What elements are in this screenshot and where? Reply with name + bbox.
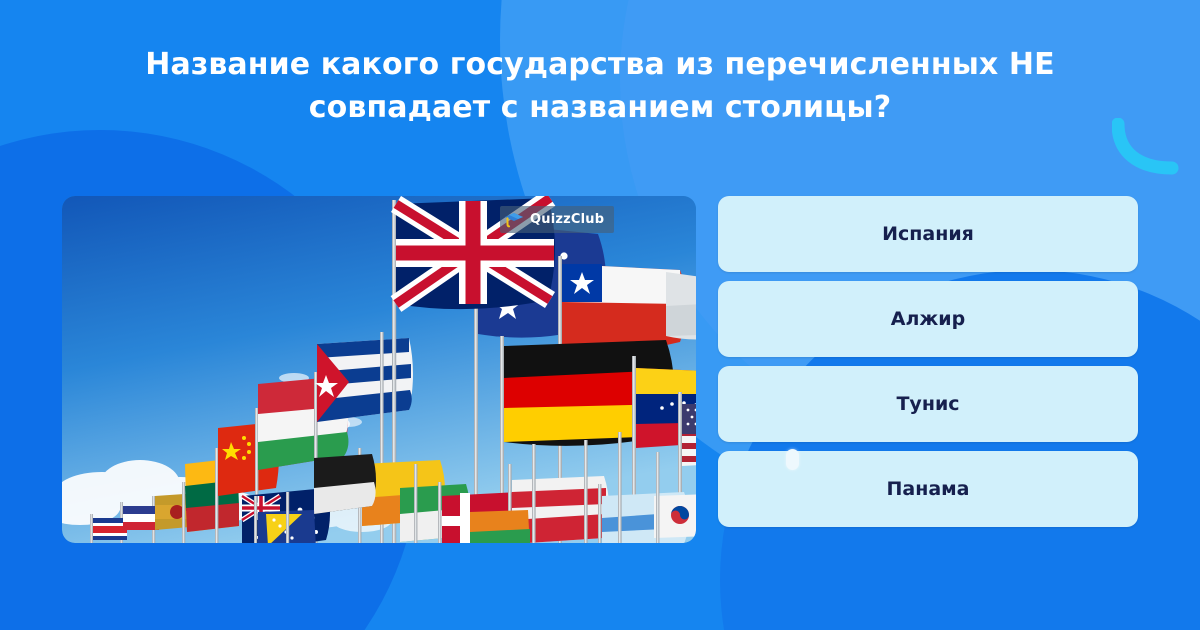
answer-option-3[interactable]: Тунис	[718, 366, 1138, 442]
cyan-arc-decoration	[1112, 118, 1186, 176]
answer-option-1[interactable]: Испания	[718, 196, 1138, 272]
question-title: Название какого государства из перечисле…	[110, 44, 1090, 129]
scrollbar-thumb[interactable]	[786, 449, 799, 470]
flags-photo	[62, 196, 696, 543]
answer-option-2[interactable]: Алжир	[718, 281, 1138, 357]
watermark: QuizzClub	[500, 206, 614, 233]
watermark-label: QuizzClub	[530, 212, 604, 227]
answer-option-4[interactable]: Панама	[718, 451, 1138, 527]
answer-options: Испания Алжир Тунис Панама	[718, 196, 1138, 527]
question-image	[62, 196, 696, 543]
graduation-cap-icon	[504, 211, 524, 229]
